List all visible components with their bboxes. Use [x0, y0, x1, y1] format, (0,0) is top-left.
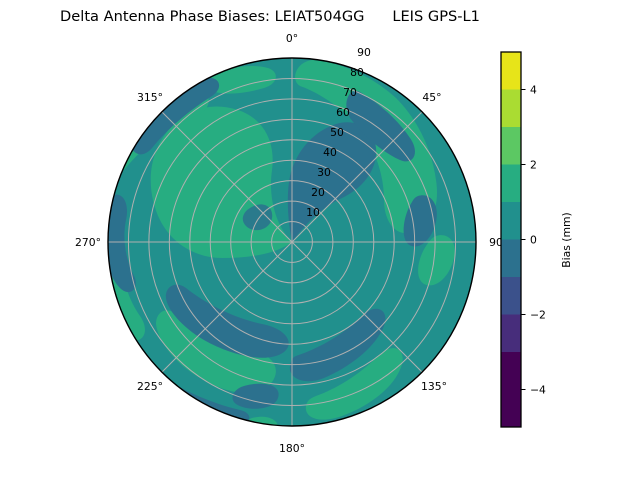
colorbar-bands	[501, 52, 521, 427]
colorbar-band-4	[501, 202, 521, 240]
colorbar-band-5	[501, 165, 521, 203]
colorbar-band-3	[501, 240, 521, 278]
colorbar-tick-4: 4	[530, 84, 537, 97]
colorbar-ticks	[521, 90, 526, 390]
colorbar-band-0	[501, 352, 521, 427]
colorbar-tick-0: 0	[530, 234, 537, 247]
colorbar-band-6	[501, 127, 521, 165]
colorbar-tick-minus2: −2	[530, 309, 546, 322]
colorbar-band-7	[501, 90, 521, 128]
figure-canvas: Delta Antenna Phase Biases: LEIAT504GG L…	[0, 0, 640, 480]
colorbar-axis-title: Bias (mm)	[560, 212, 573, 268]
colorbar-band-1	[501, 315, 521, 353]
colorbar-tick-2: 2	[530, 159, 537, 172]
colorbar-tick-minus4: −4	[530, 384, 546, 397]
colorbar-band-2	[501, 277, 521, 315]
colorbar[interactable]: 4 2 0 −2 −4 Bias (mm)	[0, 0, 640, 480]
colorbar-band-8	[501, 52, 521, 90]
